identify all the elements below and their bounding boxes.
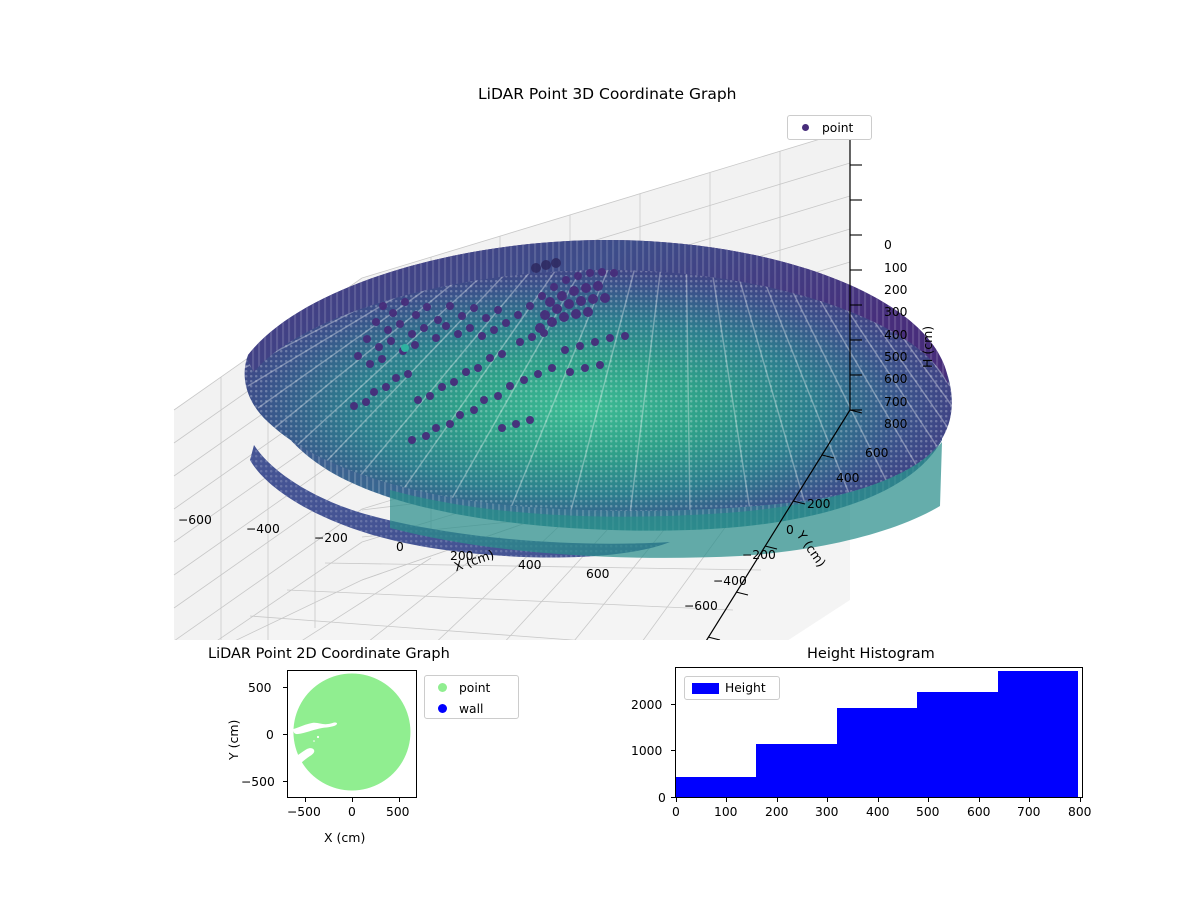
plot3d-ztick-3: 300 bbox=[884, 305, 907, 319]
histogram-bar bbox=[998, 671, 1078, 797]
hist-xtick-0: 0 bbox=[672, 805, 680, 819]
plot3d-ytick-0: 600 bbox=[865, 446, 888, 460]
plot3d-xtick-6: 600 bbox=[586, 567, 609, 581]
hist-xtick-mark-2 bbox=[777, 798, 778, 802]
hist-xtick-mark-4 bbox=[878, 798, 879, 802]
plot2d-ytick-2: −500 bbox=[241, 775, 275, 789]
plot2d-xtick-mark-1 bbox=[352, 798, 353, 802]
plot3d-ztick-4: 400 bbox=[884, 328, 907, 342]
plot2d-yaxis-label: Y (cm) bbox=[226, 720, 241, 760]
lidar-point-cloud bbox=[240, 235, 970, 558]
hist-ytick-mark-1 bbox=[671, 750, 675, 751]
wall-marker-icon bbox=[425, 704, 459, 713]
plot3d-title: LiDAR Point 3D Coordinate Graph bbox=[478, 85, 736, 103]
legend-entry-point[interactable]: point bbox=[788, 116, 871, 139]
hist-xtick-5: 500 bbox=[916, 805, 939, 819]
histogram-bar bbox=[676, 777, 756, 797]
plot2d-ytick-0: 500 bbox=[248, 681, 271, 695]
plot2d-xaxis-label: X (cm) bbox=[324, 830, 365, 845]
plot2d-ytick-mark-2 bbox=[283, 781, 287, 782]
hist-xtick-mark-8 bbox=[1080, 798, 1081, 802]
point-marker-icon bbox=[788, 124, 822, 131]
legend-label-point-2d: point bbox=[459, 681, 498, 695]
hist-ytick-mark-2 bbox=[671, 704, 675, 705]
legend-entry-height[interactable]: Height bbox=[685, 677, 779, 699]
hist-xtick-mark-7 bbox=[1029, 798, 1030, 802]
histogram-bar bbox=[917, 692, 997, 797]
plot3d-ztick-2: 200 bbox=[884, 283, 907, 297]
legend-entry-point-2d[interactable]: point bbox=[425, 677, 518, 698]
hist-ytick-0: 0 bbox=[658, 791, 666, 805]
legend-label-wall-2d: wall bbox=[459, 702, 491, 716]
plot3d-ztick-7: 700 bbox=[884, 395, 907, 409]
plot3d-ztick-5: 500 bbox=[884, 350, 907, 364]
hist-xtick-7: 700 bbox=[1017, 805, 1040, 819]
plot2d-xtick-2: 500 bbox=[386, 805, 409, 819]
hist-xtick-2: 200 bbox=[765, 805, 788, 819]
hist-ytick-mark-0 bbox=[671, 797, 675, 798]
plot2d-xtick-1: 0 bbox=[348, 805, 356, 819]
hist-xtick-3: 300 bbox=[815, 805, 838, 819]
plot3d-ytick-6: −600 bbox=[684, 599, 718, 613]
plot2d-title: LiDAR Point 2D Coordinate Graph bbox=[208, 646, 450, 662]
plot3d-ytick-5: −400 bbox=[713, 574, 747, 588]
plot3d-canvas bbox=[150, 110, 970, 640]
hist-xtick-1: 100 bbox=[714, 805, 737, 819]
hist-xtick-mark-5 bbox=[928, 798, 929, 802]
plot2d-xtick-0: −500 bbox=[287, 805, 321, 819]
hist-xtick-mark-3 bbox=[827, 798, 828, 802]
plot3d-ztick-6: 600 bbox=[884, 372, 907, 386]
histogram-bar bbox=[756, 744, 836, 797]
plot3d-axes[interactable] bbox=[150, 110, 970, 640]
plot3d-xtick-1: −400 bbox=[246, 522, 280, 536]
matplotlib-figure: LiDAR Point 3D Coordinate Graph bbox=[0, 0, 1200, 900]
hist-xtick-mark-1 bbox=[726, 798, 727, 802]
hist-ytick-2: 2000 bbox=[631, 698, 662, 712]
histogram-title: Height Histogram bbox=[807, 646, 935, 662]
legend-label-height: Height bbox=[725, 681, 774, 695]
hist-ytick-1: 1000 bbox=[631, 744, 662, 758]
plot2d-ytick-mark-1 bbox=[283, 734, 287, 735]
plot3d-legend[interactable]: point bbox=[787, 115, 872, 140]
legend-label-point: point bbox=[822, 121, 861, 135]
point-marker-icon bbox=[425, 683, 459, 692]
hist-xtick-8: 800 bbox=[1068, 805, 1091, 819]
height-patch-icon bbox=[685, 683, 725, 694]
plot3d-zaxis-label: H (cm) bbox=[920, 326, 935, 368]
hist-xtick-4: 400 bbox=[866, 805, 889, 819]
plot3d-xtick-5: 400 bbox=[518, 558, 541, 572]
hist-xtick-mark-0 bbox=[676, 798, 677, 802]
plot3d-xtick-0: −600 bbox=[178, 513, 212, 527]
legend-entry-wall-2d[interactable]: wall bbox=[425, 698, 518, 719]
plot3d-ytick-2: 200 bbox=[807, 497, 830, 511]
isolated-point-marker bbox=[401, 344, 409, 352]
plot2d-canvas bbox=[288, 671, 416, 797]
plot3d-xtick-3: 0 bbox=[396, 540, 404, 554]
plot3d-ztick-1: 100 bbox=[884, 261, 907, 275]
plot3d-xtick-2: −200 bbox=[314, 531, 348, 545]
hist-xtick-mark-6 bbox=[979, 798, 980, 802]
plot2d-ytick-1: 0 bbox=[266, 728, 274, 742]
plot2d-legend[interactable]: point wall bbox=[424, 675, 519, 719]
plot2d-xtick-mark-0 bbox=[305, 798, 306, 802]
plot3d-ztick-8: 800 bbox=[884, 417, 907, 431]
histogram-legend[interactable]: Height bbox=[684, 676, 780, 700]
histogram-bar bbox=[837, 708, 917, 797]
plot2d-axes[interactable] bbox=[287, 670, 417, 798]
plot2d-xtick-mark-2 bbox=[399, 798, 400, 802]
plot3d-ytick-4: −200 bbox=[742, 548, 776, 562]
hist-xtick-6: 600 bbox=[967, 805, 990, 819]
plot3d-ytick-1: 400 bbox=[836, 471, 859, 485]
plot3d-ytick-3: 0 bbox=[786, 523, 794, 537]
plot3d-ztick-0: 0 bbox=[884, 238, 892, 252]
plot2d-ytick-mark-0 bbox=[283, 687, 287, 688]
